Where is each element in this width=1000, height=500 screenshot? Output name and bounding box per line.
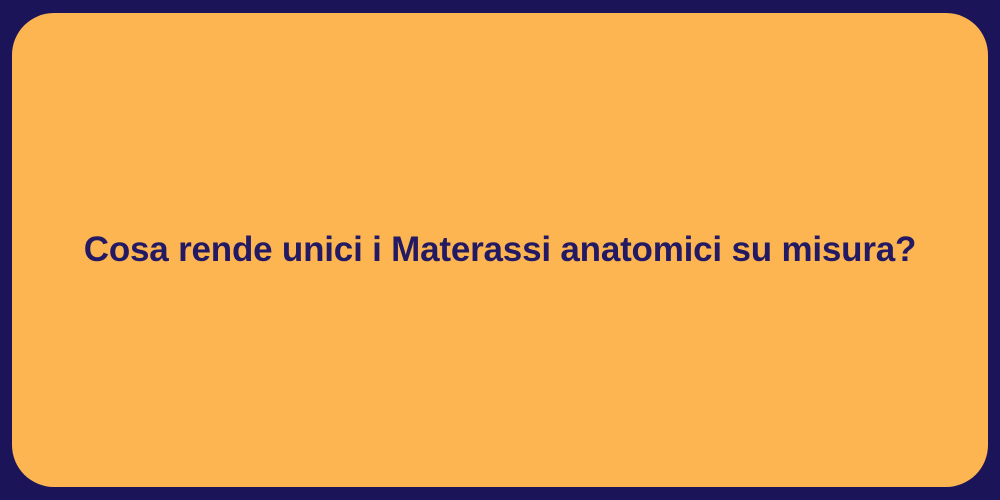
- content-card: Cosa rende unici i Materassi anatomici s…: [12, 13, 988, 487]
- page-background: Cosa rende unici i Materassi anatomici s…: [0, 0, 1000, 500]
- card-heading: Cosa rende unici i Materassi anatomici s…: [44, 228, 956, 272]
